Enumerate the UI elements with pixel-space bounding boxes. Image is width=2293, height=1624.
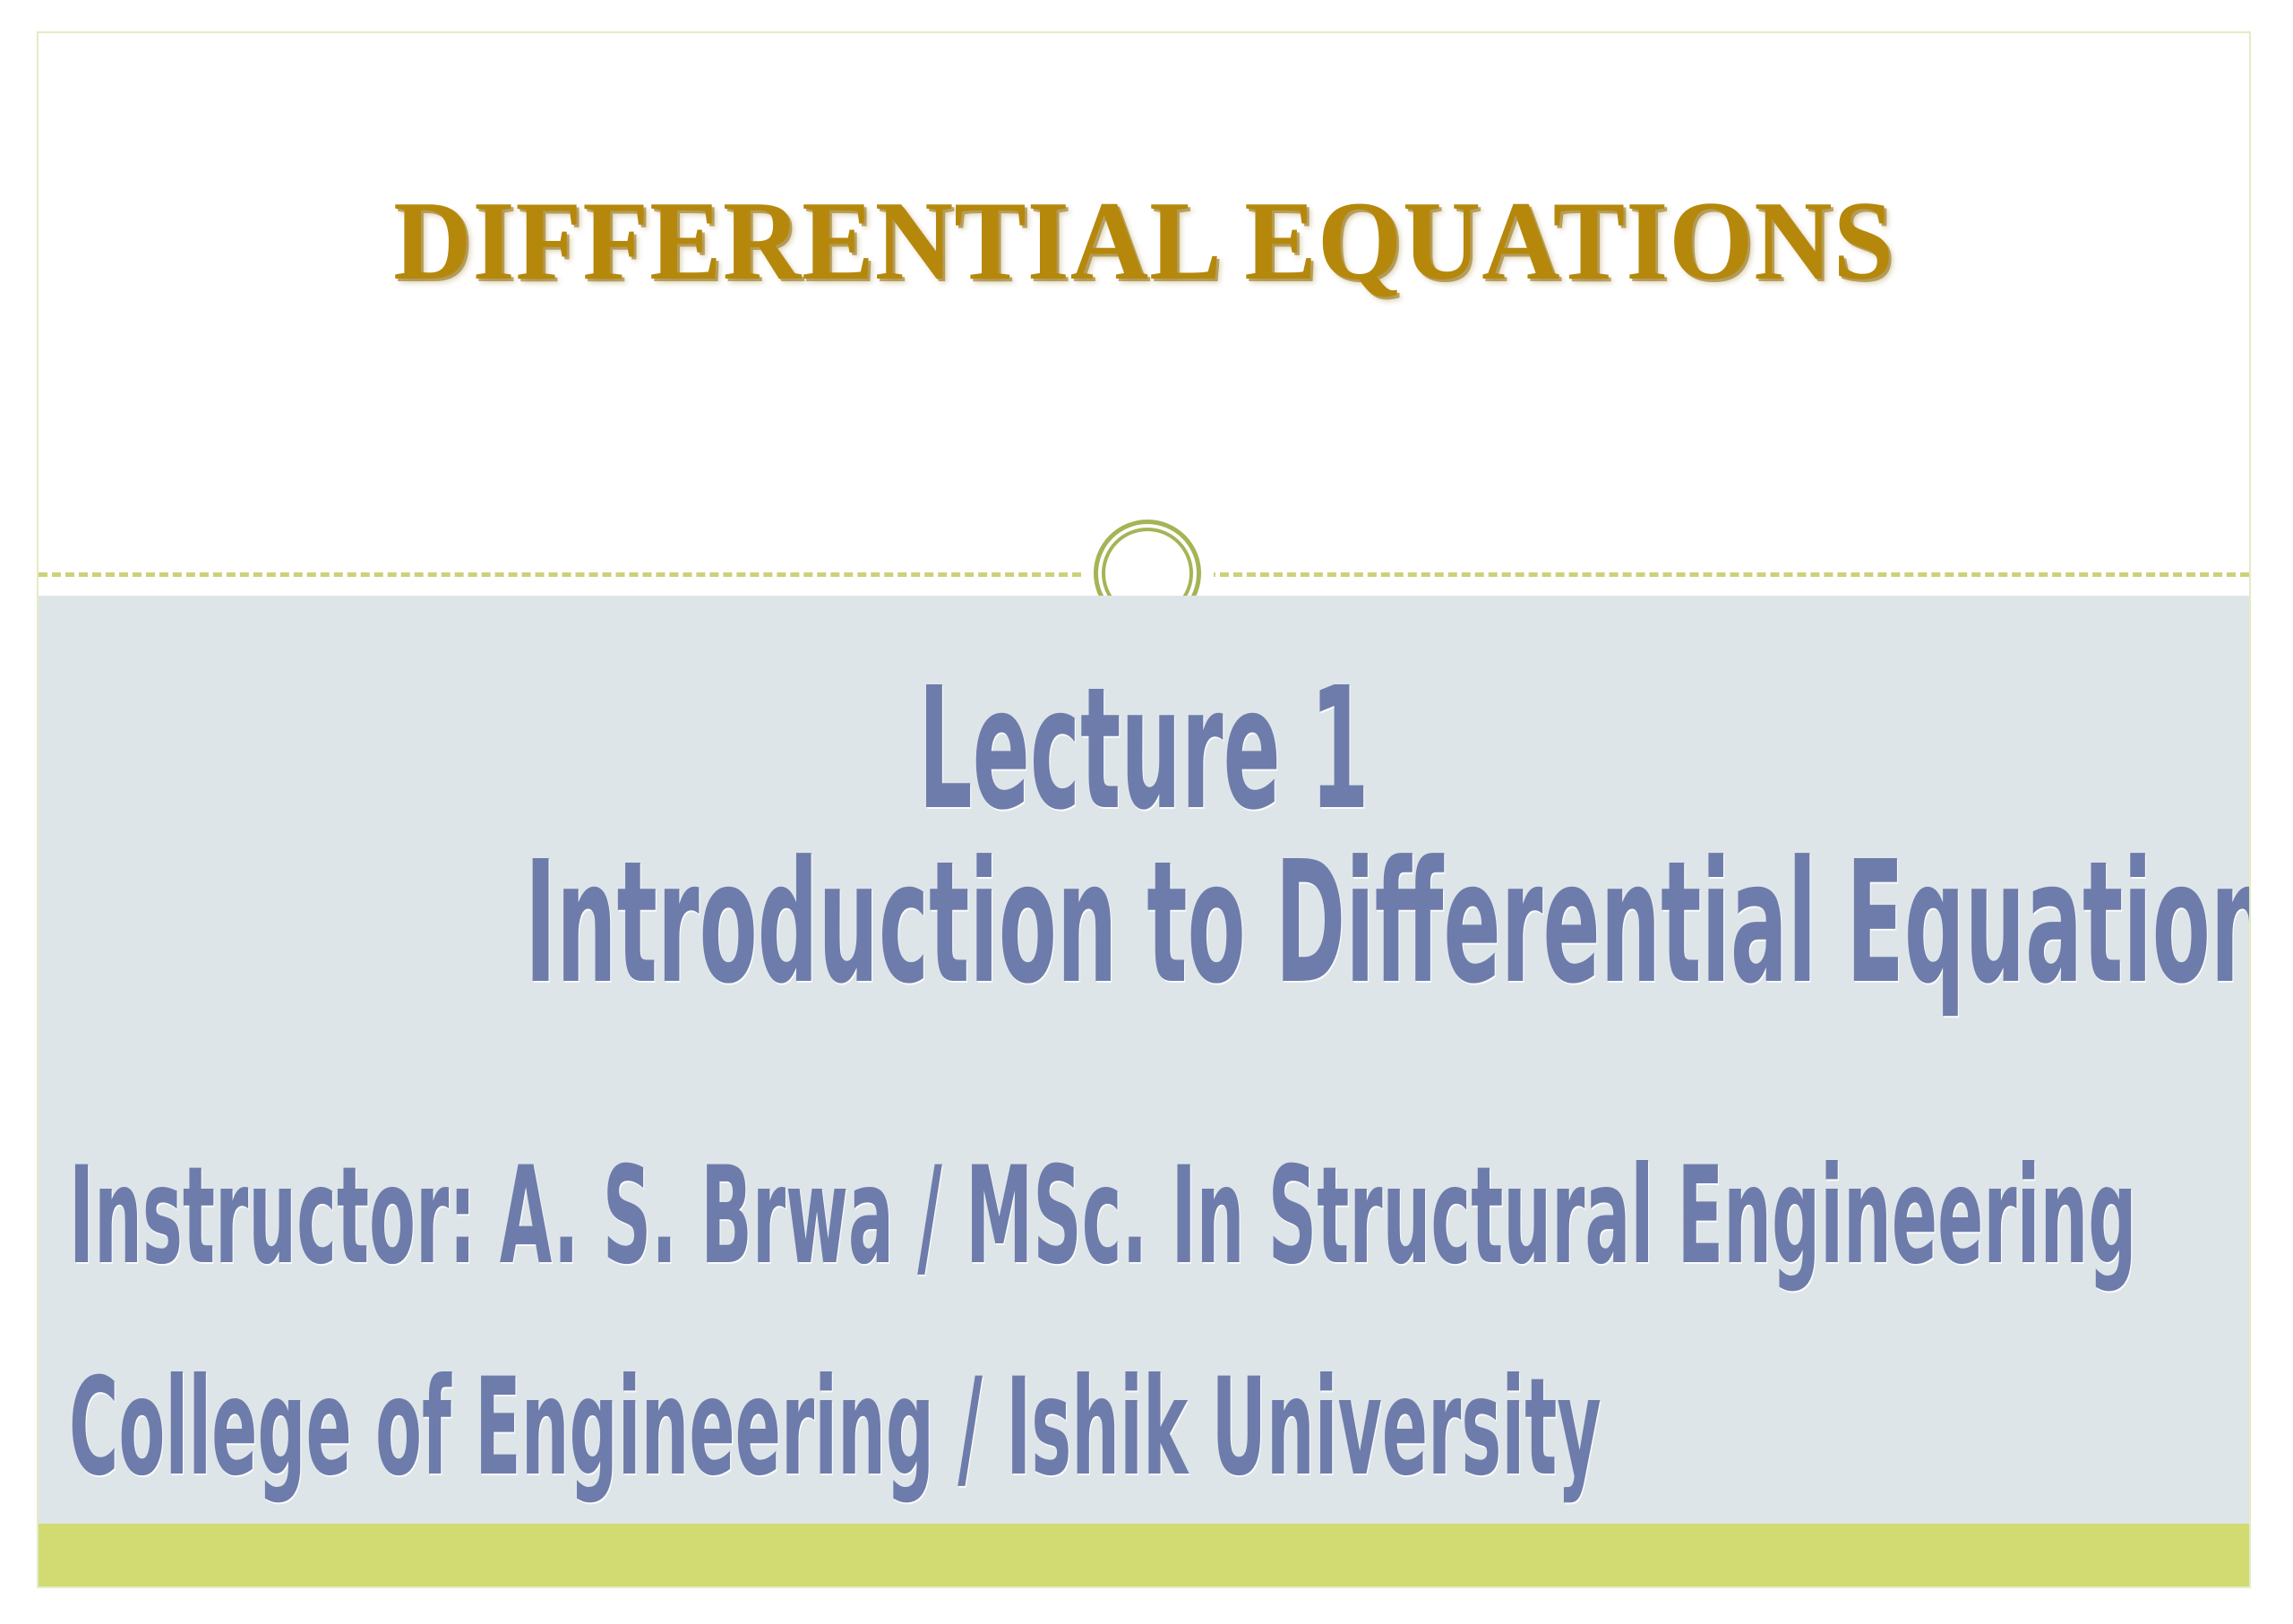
lecture-number: Lecture 1 [525, 666, 1763, 834]
credits-block: Instructor: A. S. Brwa / MSc. In Structu… [69, 1149, 2251, 1495]
institution-line: College of Engineering / Ishik Universit… [69, 1361, 2136, 1495]
title-zone: DIFFERENTIAL EQUATIONS [39, 33, 2249, 572]
lecture-topic: Introduction to Differential Equations [525, 834, 1763, 1012]
page-title: DIFFERENTIAL EQUATIONS [82, 185, 2204, 298]
instructor-line: Instructor: A. S. Brwa / MSc. In Structu… [69, 1149, 2136, 1284]
bottom-accent-bar [39, 1524, 2249, 1586]
presentation-slide: DIFFERENTIAL EQUATIONS Lecture 1 Introdu… [37, 31, 2251, 1588]
slide-body-panel: Lecture 1 Introduction to Differential E… [39, 596, 2249, 1527]
subtitle-block: Lecture 1 Introduction to Differential E… [39, 666, 2249, 1012]
